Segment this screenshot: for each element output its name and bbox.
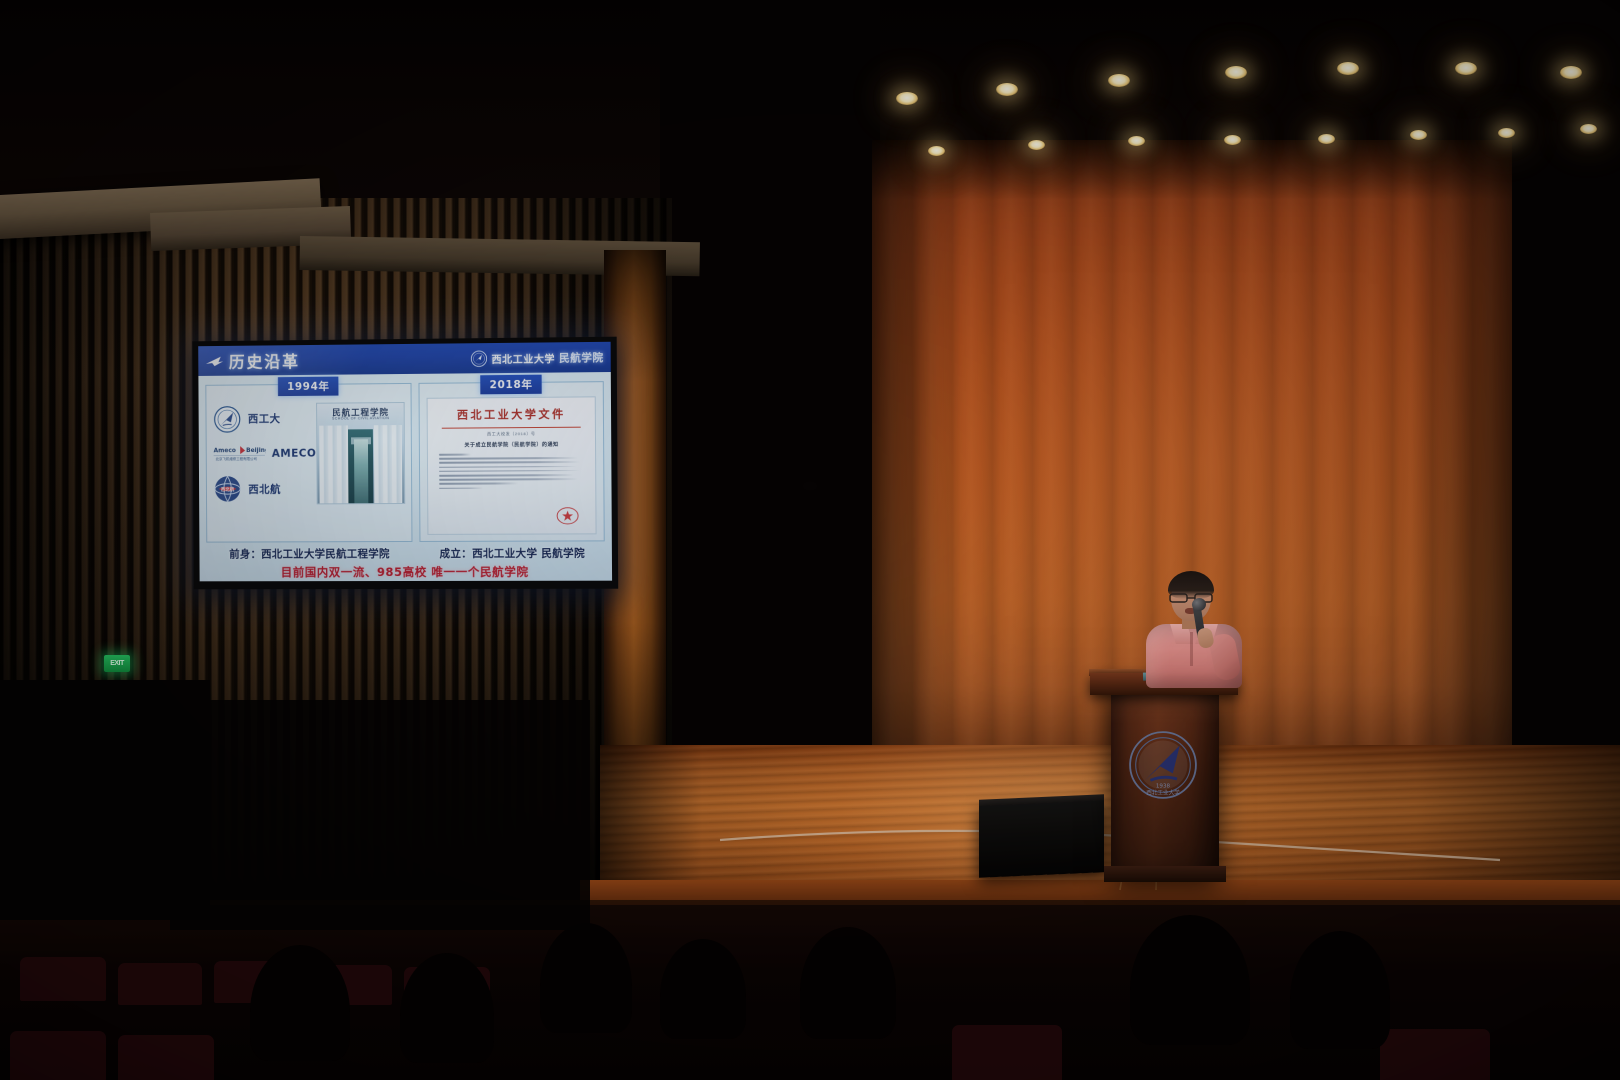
- building-photo: 民航工程学院 SCHOOL OF CIVIL AVIATION: [316, 402, 406, 504]
- exit-sign-label: EXIT: [110, 660, 124, 667]
- partner-logo-list: 西工大 Ameco Beijing 北京飞机维修工程有限公司: [212, 401, 316, 507]
- audience-head-silhouette: [1290, 931, 1390, 1049]
- stage-wedge-monitor-body: [979, 800, 1104, 877]
- stage-light-icon: [1580, 124, 1597, 134]
- entrance-glass: [354, 440, 368, 504]
- stage-light-icon: [1455, 62, 1477, 75]
- audience-head-silhouette: [540, 923, 632, 1033]
- building-sign-subtext: SCHOOL OF CIVIL AVIATION: [317, 416, 404, 421]
- timeline-panel-1994: 1994年 西工大: [205, 383, 413, 543]
- stage-light-icon: [1108, 74, 1130, 87]
- document-subject: 关于成立民航学院（民航学院）的通知: [428, 441, 595, 449]
- stage-light-icon: [1224, 135, 1241, 145]
- podium-base: [1104, 866, 1226, 882]
- shirt-placket: [1190, 632, 1193, 666]
- stage-light-icon: [1028, 140, 1045, 150]
- slide-title: 历史沿革: [229, 348, 300, 373]
- ameco-beijing-logo: Ameco Beijing 北京飞机维修工程有限公司: [213, 444, 266, 463]
- audience-head-silhouette: [660, 939, 746, 1039]
- emergency-exit-icon: EXIT: [104, 655, 130, 672]
- audience-seat: [10, 1031, 106, 1080]
- document-body-lines: [439, 453, 584, 489]
- airplane-icon: [205, 354, 224, 367]
- slide-header: 历史沿革 西北工业大学 民航学院: [198, 342, 611, 376]
- document-number: 西工大校发〔2018〕号: [428, 431, 595, 438]
- stage-light-icon: [1337, 62, 1359, 75]
- presentation-slide: 历史沿革 西北工业大学 民航学院 1994年: [198, 342, 612, 582]
- audience-head-silhouette: [800, 927, 896, 1039]
- stage-masking-drape-left: [660, 0, 880, 770]
- stage-light-icon: [928, 146, 945, 156]
- year-tag-1994: 1994年: [278, 377, 338, 396]
- document-rule: [442, 427, 580, 429]
- svg-text:北京飞机维修工程有限公司: 北京飞机维修工程有限公司: [216, 456, 258, 461]
- logo-label: AMECO: [272, 448, 317, 460]
- slide-footer-text: 目前国内双一流、985高校 唯一一个民航学院: [200, 561, 613, 581]
- list-item: 西北航 西北航: [213, 474, 317, 504]
- stage-light-icon: [1318, 134, 1335, 144]
- logo-label: 西北航: [248, 481, 281, 496]
- stage-light-icon: [1410, 130, 1427, 140]
- building-photo-container: 民航工程学院 SCHOOL OF CIVIL AVIATION: [316, 400, 406, 506]
- svg-text:1938: 1938: [1156, 783, 1171, 789]
- audience-seating-silhouette: [0, 905, 1620, 1080]
- audience-head-silhouette: [1130, 915, 1250, 1045]
- audience-seat: [952, 1025, 1062, 1080]
- speaker-person: [1140, 574, 1250, 686]
- slide-brand-college: 民航学院: [559, 349, 604, 365]
- stage-light-icon: [1498, 128, 1515, 138]
- panel-captions: 前身：西北工业大学民航工程学院 成立：西北工业大学 民航学院: [199, 541, 612, 561]
- slide-footer: 目前国内双一流、985高校 唯一一个民航学院: [200, 561, 613, 582]
- caption-2018: 成立：西北工业大学 民航学院: [420, 545, 605, 561]
- list-item: 西工大: [212, 403, 316, 434]
- foreground-dark-mid: [170, 700, 590, 930]
- timeline-panel-2018: 2018年 西北工业大学文件 西工大校发〔2018〕号 关于成立民航学院（民航学…: [419, 381, 605, 542]
- audience-seat: [1380, 1029, 1490, 1080]
- glasses-icon: [1169, 593, 1213, 603]
- stage-light-icon: [1225, 66, 1247, 79]
- stage-light-icon: [1560, 66, 1582, 79]
- building-column-left: [319, 425, 348, 503]
- building-entrance: [348, 429, 373, 503]
- caption-1994: 前身：西北工业大学民航工程学院: [206, 546, 413, 561]
- projection-screen: 历史沿革 西北工业大学 民航学院 1994年: [192, 337, 618, 590]
- document-title: 西北工业大学文件: [428, 405, 595, 422]
- audience-seat: [20, 957, 106, 1001]
- svg-text:Beijing: Beijing: [246, 447, 266, 454]
- audience-seat: [118, 963, 202, 1005]
- auditorium-scene: EXIT 历史沿革 西北工业大学 民航学院: [0, 0, 1620, 1080]
- slide-brand: 西北工业大学 民航学院: [470, 348, 603, 366]
- npu-podium-seal-icon: 1938 西北工业大学: [1128, 730, 1198, 800]
- logo-label: 西工大: [248, 411, 281, 426]
- npu-emblem-icon: [212, 404, 242, 434]
- northwest-airlines-logo: 西北航: [213, 474, 243, 504]
- slide-body: 1994年 西工大: [198, 372, 611, 543]
- red-official-seal-icon: [556, 504, 579, 527]
- building-column-right: [373, 425, 402, 503]
- stage-light-icon: [1128, 136, 1145, 146]
- svg-text:Ameco: Ameco: [214, 448, 236, 455]
- floor-cable-icon: [600, 740, 1620, 920]
- audience-seat: [118, 1035, 214, 1080]
- official-document: 西北工业大学文件 西工大校发〔2018〕号 关于成立民航学院（民航学院）的通知: [427, 396, 597, 535]
- slide-brand-university: 西北工业大学: [491, 350, 555, 366]
- list-item: Ameco Beijing 北京飞机维修工程有限公司 AMECO: [213, 439, 317, 470]
- curtain-top-shadow: [872, 140, 1512, 200]
- panel-1994-content: 西工大 Ameco Beijing 北京飞机维修工程有限公司: [206, 384, 411, 507]
- npu-seal-icon: [470, 350, 487, 367]
- year-tag-2018: 2018年: [480, 375, 541, 395]
- stage-light-icon: [996, 83, 1018, 96]
- stage-light-icon: [896, 92, 918, 105]
- audience-head-silhouette: [250, 945, 350, 1061]
